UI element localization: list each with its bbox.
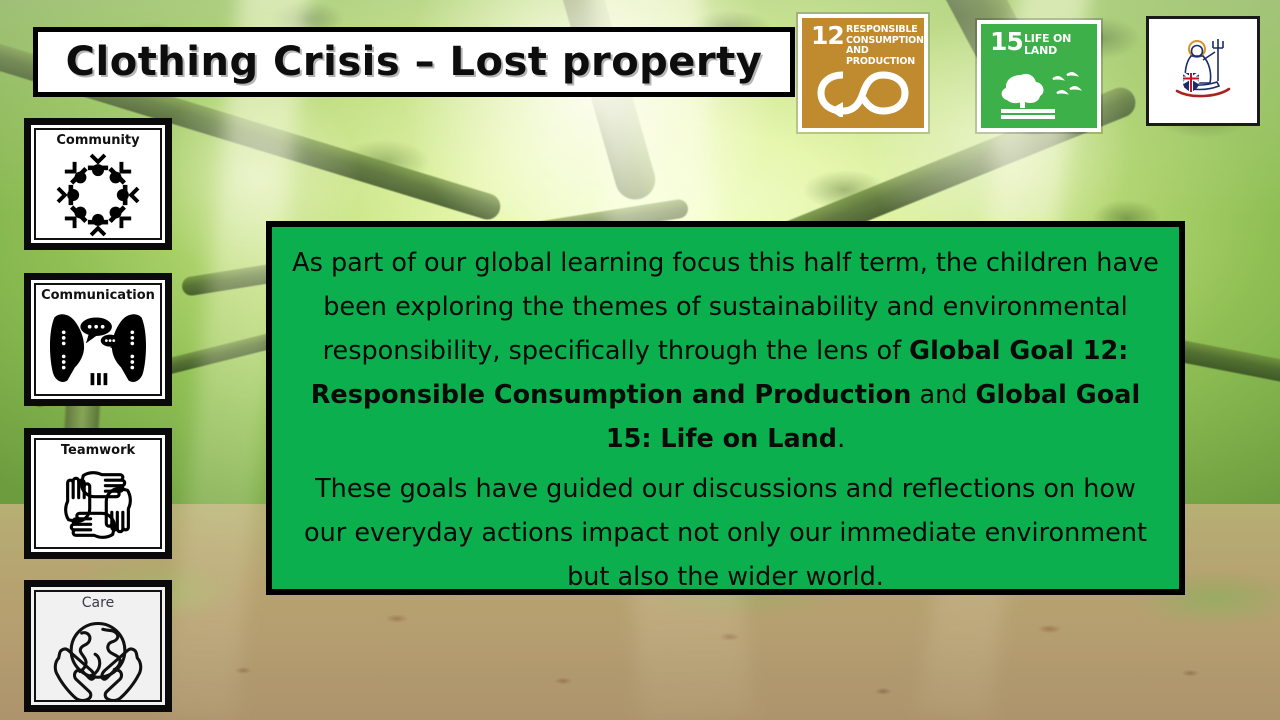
people-circle-icon [36,149,160,241]
value-card-care: Care [24,580,172,712]
britannia-seated-figure-icon [1157,25,1249,117]
teamwork-art-wrapper: Teamwork [36,444,160,459]
page-title: Clothing Crisis – Lost property [66,39,763,85]
value-card-care-label: Care [82,596,114,611]
info-par1-text-2: and [911,380,975,410]
sdg-goal-12-badge: 12 Responsible Consumption and Productio… [798,14,928,132]
school-logo [1146,16,1260,126]
sdg-15-number: 15 [990,29,1023,54]
info-paragraph-1: As part of our global learning focus thi… [292,241,1159,461]
sdg-goal-15-badge: 15 Life on Land [977,20,1101,132]
sdg-12-number: 12 [811,23,844,48]
info-par1-text-3: . [837,424,845,454]
sdg-12-title: Responsible Consumption and Production [846,25,919,67]
sdg-15-title: Life on Land [1024,33,1092,57]
value-card-teamwork-label: Teamwork [61,444,135,458]
four-interlocking-hands-icon [36,459,160,551]
tree-and-birds-icon [981,64,1097,122]
value-card-community: Community [24,118,172,250]
info-paragraph-2: These goals have guided our discussions … [292,467,1159,599]
value-card-teamwork: Teamwork [24,428,172,559]
two-heads-speech-bubbles-icon [36,304,160,394]
info-panel: As part of our global learning focus thi… [266,221,1185,595]
value-card-community-label: Community [56,134,139,148]
infinity-loop-arrow-icon [802,64,924,122]
value-card-communication: Communication [24,273,172,406]
hands-holding-globe-icon [36,612,160,706]
page-title-banner: Clothing Crisis – Lost property [33,27,795,97]
value-card-communication-label: Communication [41,289,155,303]
